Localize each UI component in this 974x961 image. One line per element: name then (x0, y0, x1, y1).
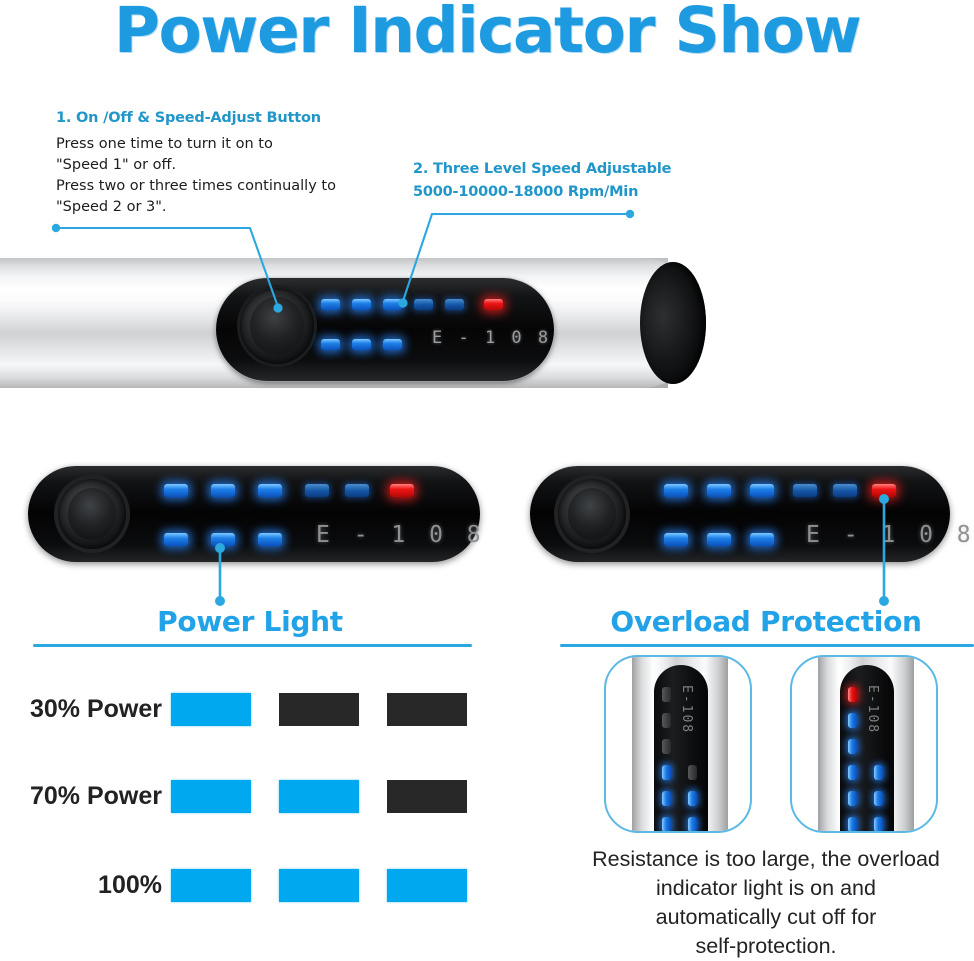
mid-left-led-bottom-1 (164, 533, 188, 546)
overload-caption-line-1: Resistance is too large, the overload (556, 845, 974, 874)
closeup-b-led-l6 (848, 817, 857, 832)
callout-1-line-4: "Speed 2 or 3". (56, 197, 336, 218)
mid-right-led-bottom-3 (750, 533, 774, 546)
closeup-a-led-l4 (662, 765, 671, 780)
closeup-a-led-r1 (688, 765, 697, 780)
mid-left-led-bottom-2 (211, 533, 235, 546)
power-bar-3 (387, 869, 467, 902)
hero-led-top-4 (414, 299, 433, 310)
overload-caption-line-2: indicator light is on and (556, 874, 974, 903)
closeup-b-led-l5 (848, 791, 857, 806)
mid-left-led-overload (390, 484, 414, 497)
mid-right-led-top-4 (793, 484, 817, 497)
overload-caption-line-3: automatically cut off for (556, 903, 974, 932)
power-bar-2 (279, 780, 359, 813)
callout-1-line-3: Press two or three times continually to (56, 176, 336, 197)
hero-model-label: E - 1 0 8 (432, 328, 551, 348)
callout-2-line-2: 5000-10000-18000 Rpm/Min (413, 181, 671, 204)
callout-2-heading: 2. Three Level Speed Adjustable 5000-100… (413, 158, 671, 204)
closeup-a-led-r3 (688, 817, 697, 832)
hero-led-bottom-1 (321, 339, 340, 350)
power-row-label: 30% Power (0, 695, 162, 724)
mid-left-led-bottom-3 (258, 533, 282, 546)
power-light-divider (33, 644, 472, 647)
power-row-label: 70% Power (0, 782, 162, 811)
closeup-a-led-l3 (662, 739, 671, 754)
callout-2-line-1: 2. Three Level Speed Adjustable (413, 158, 671, 181)
closeup-a-led-l6 (662, 817, 671, 832)
closeup-b-led-l4 (848, 765, 857, 780)
overload-caption: Resistance is too large, the overload in… (556, 845, 974, 961)
mid-right-led-top-5 (833, 484, 857, 497)
mid-right-led-bottom-2 (707, 533, 731, 546)
closeup-model-label: E-108 (865, 685, 880, 734)
callout-1-line-1: Press one time to turn it on to (56, 134, 336, 155)
power-bar-1 (171, 869, 251, 902)
mid-right-power-button-inner[interactable] (568, 488, 616, 540)
hero-led-top-2 (352, 299, 371, 310)
hero-led-bottom-3 (383, 339, 402, 350)
closeup-a-led-l2 (662, 713, 671, 728)
hero-led-top-1 (321, 299, 340, 310)
mid-right-led-bottom-1 (664, 533, 688, 546)
hero-led-bottom-2 (352, 339, 371, 350)
power-bar-1 (171, 780, 251, 813)
mid-left-led-top-1 (164, 484, 188, 497)
closeup-a-led-l1 (662, 687, 671, 702)
power-row-label: 100% (0, 871, 162, 900)
closeup-model-label: E-108 (679, 685, 694, 734)
closeup-b-led-r2 (874, 791, 883, 806)
hero-led-top-5 (445, 299, 464, 310)
overload-caption-line-4: self-protection. (556, 932, 974, 961)
hero-device-end-cap (640, 262, 706, 384)
mid-right-led-top-3 (750, 484, 774, 497)
closeup-b-led-overload (848, 687, 857, 702)
closeup-b-led-r3 (874, 817, 883, 832)
mid-right-led-top-1 (664, 484, 688, 497)
closeup-b-led-l2 (848, 713, 857, 728)
hero-led-overload (484, 299, 503, 310)
callout-1-line-2: "Speed 1" or off. (56, 155, 336, 176)
power-light-heading: Power Light (30, 605, 470, 638)
power-bar-2 (279, 693, 359, 726)
callout-1-heading: 1. On /Off & Speed-Adjust Button (56, 110, 321, 126)
mid-right-led-top-2 (707, 484, 731, 497)
mid-right-led-overload (872, 484, 896, 497)
overload-protection-divider (560, 644, 974, 647)
power-bar-2 (279, 869, 359, 902)
closeup-b-led-l3 (848, 739, 857, 754)
mid-left-model-label: E - 1 0 8 (316, 522, 486, 548)
power-bar-3 (387, 780, 467, 813)
closeup-a-led-r2 (688, 791, 697, 806)
callout-1-body: Press one time to turn it on to "Speed 1… (56, 134, 336, 218)
mid-left-led-top-5 (345, 484, 369, 497)
hero-led-top-3 (383, 299, 402, 310)
power-bar-3 (387, 693, 467, 726)
infographic-canvas: Power Indicator Show 1. On /Off & Speed-… (0, 0, 974, 961)
overload-closeup-normal: E-108 (604, 655, 752, 833)
mid-left-led-top-4 (305, 484, 329, 497)
page-title: Power Indicator Show (0, 0, 974, 67)
mid-right-model-label: E - 1 0 8 (806, 522, 974, 548)
closeup-a-led-l5 (662, 791, 671, 806)
power-bar-1 (171, 693, 251, 726)
hero-power-button-inner[interactable] (250, 297, 304, 355)
mid-left-power-button-inner[interactable] (68, 488, 116, 540)
overload-protection-heading: Overload Protection (560, 605, 972, 638)
mid-left-led-top-3 (258, 484, 282, 497)
mid-left-led-top-2 (211, 484, 235, 497)
closeup-b-led-r1 (874, 765, 883, 780)
overload-closeup-triggered: E-108 (790, 655, 938, 833)
